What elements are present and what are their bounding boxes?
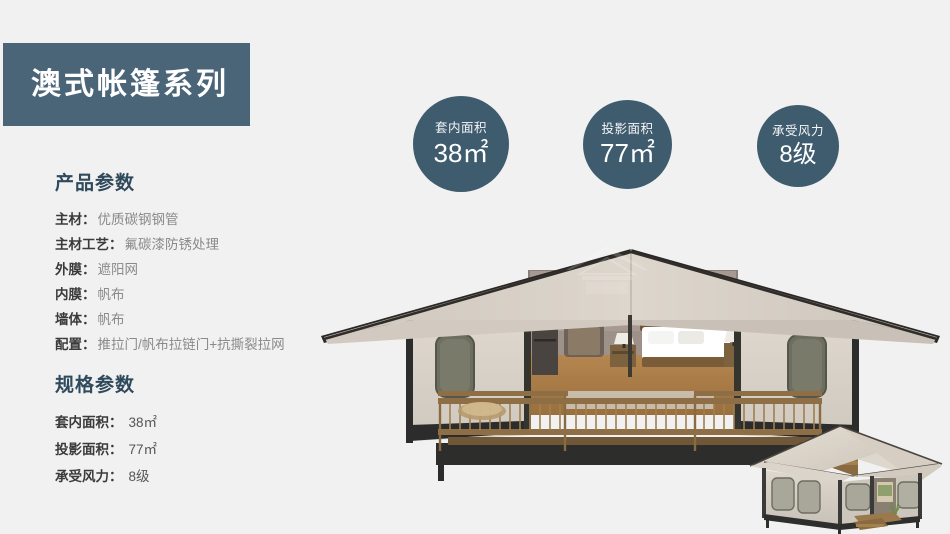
spec-label: 套内面积：: [55, 415, 123, 430]
param-row: 内膜：帆布: [55, 282, 285, 307]
param-label: 墙体：: [55, 312, 96, 327]
param-value: 优质碳钢钢管: [98, 212, 179, 227]
title-banner: 澳式帐篷系列: [3, 43, 250, 126]
stat-badge-projected-area: 投影面积 77㎡: [583, 100, 672, 189]
param-label: 外膜：: [55, 262, 96, 277]
product-parameters-list: 主材：优质碳钢钢管 主材工艺：氟碳漆防锈处理 外膜：遮阳网 内膜：帆布 墙体：帆…: [55, 207, 285, 357]
param-label: 主材工艺：: [55, 237, 123, 252]
product-parameters-section: 产品参数 主材：优质碳钢钢管 主材工艺：氟碳漆防锈处理 外膜：遮阳网 内膜：帆布…: [55, 168, 285, 357]
spec-value: 8级: [129, 469, 150, 484]
spec-row: 承受风力：8级: [55, 463, 157, 490]
product-parameters-heading: 产品参数: [55, 168, 285, 195]
param-row: 主材：优质碳钢钢管: [55, 207, 285, 232]
product-spec-page: 澳式帐篷系列 产品参数 主材：优质碳钢钢管 主材工艺：氟碳漆防锈处理 外膜：遮阳…: [0, 0, 950, 534]
param-label: 主材：: [55, 212, 96, 227]
spec-row: 套内面积：38㎡: [55, 409, 157, 436]
stat-value: 77㎡: [600, 140, 655, 166]
param-row: 外膜：遮阳网: [55, 257, 285, 282]
param-value: 推拉门/帆布拉链门+抗撕裂拉网: [98, 337, 285, 352]
param-row: 配置：推拉门/帆布拉链门+抗撕裂拉网: [55, 332, 285, 357]
param-value: 帆布: [98, 287, 125, 302]
spec-value: 38㎡: [129, 415, 158, 430]
param-label: 内膜：: [55, 287, 96, 302]
param-row: 墙体：帆布: [55, 307, 285, 332]
param-value: 帆布: [98, 312, 125, 327]
spec-parameters-list: 套内面积：38㎡ 投影面积：77㎡ 承受风力：8级: [55, 409, 157, 490]
spec-value: 77㎡: [129, 442, 158, 457]
stat-value: 38㎡: [434, 140, 489, 166]
stat-badge-interior-area: 套内面积 38㎡: [413, 96, 509, 192]
stat-label: 承受风力: [772, 125, 824, 138]
param-value: 氟碳漆防锈处理: [125, 237, 220, 252]
stat-badge-wind-resistance: 承受风力 8级: [757, 105, 839, 187]
page-title: 澳式帐篷系列: [31, 70, 229, 100]
param-value: 遮阳网: [98, 262, 139, 277]
spec-label: 承受风力：: [55, 469, 123, 484]
stat-label: 套内面积: [435, 122, 487, 135]
stat-label: 投影面积: [601, 123, 653, 136]
thumbnail-tent-image: [742, 418, 950, 534]
param-row: 主材工艺：氟碳漆防锈处理: [55, 232, 285, 257]
spec-row: 投影面积：77㎡: [55, 436, 157, 463]
spec-label: 投影面积：: [55, 442, 123, 457]
stat-value: 8级: [779, 143, 816, 167]
spec-parameters-section: 规格参数 套内面积：38㎡ 投影面积：77㎡ 承受风力：8级: [55, 370, 157, 490]
spec-parameters-heading: 规格参数: [55, 370, 157, 397]
param-label: 配置：: [55, 337, 96, 352]
